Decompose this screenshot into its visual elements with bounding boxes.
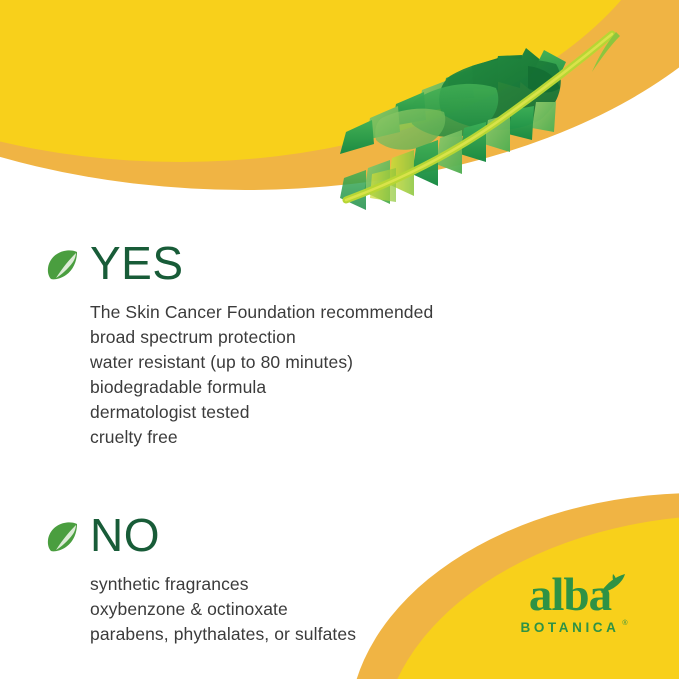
list-item: The Skin Cancer Foundation recommended xyxy=(90,300,679,325)
list-item: oxybenzone & octinoxate xyxy=(90,597,679,622)
top-yellow-fill xyxy=(0,0,679,162)
list-item: dermatologist tested xyxy=(90,400,679,425)
list-item: synthetic fragrances xyxy=(90,572,679,597)
list-item: water resistant (up to 80 minutes) xyxy=(90,350,679,375)
leaf-icon xyxy=(46,248,80,282)
section-yes-title: YES xyxy=(90,240,184,286)
section-no-title: NO xyxy=(90,512,160,558)
section-yes-header: YES xyxy=(0,236,679,290)
list-item: parabens, phythalates, or sulfates xyxy=(90,622,679,647)
top-amber-band xyxy=(0,0,679,190)
section-yes: YES The Skin Cancer Foundation recommend… xyxy=(0,236,679,450)
section-no: NO synthetic fragrances oxybenzone & oct… xyxy=(0,508,679,647)
list-item: broad spectrum protection xyxy=(90,325,679,350)
section-yes-list: The Skin Cancer Foundation recommended b… xyxy=(0,300,679,450)
feature-content: YES The Skin Cancer Foundation recommend… xyxy=(0,236,679,647)
list-item: cruelty free xyxy=(90,425,679,450)
product-feature-panel: YES The Skin Cancer Foundation recommend… xyxy=(0,0,679,679)
tropical-palm-leaf-icon xyxy=(330,28,640,228)
list-item: biodegradable formula xyxy=(90,375,679,400)
section-no-list: synthetic fragrances oxybenzone & octino… xyxy=(0,572,679,647)
section-no-header: NO xyxy=(0,508,679,562)
leaf-icon xyxy=(46,520,80,554)
top-yellow-curve xyxy=(0,0,679,240)
